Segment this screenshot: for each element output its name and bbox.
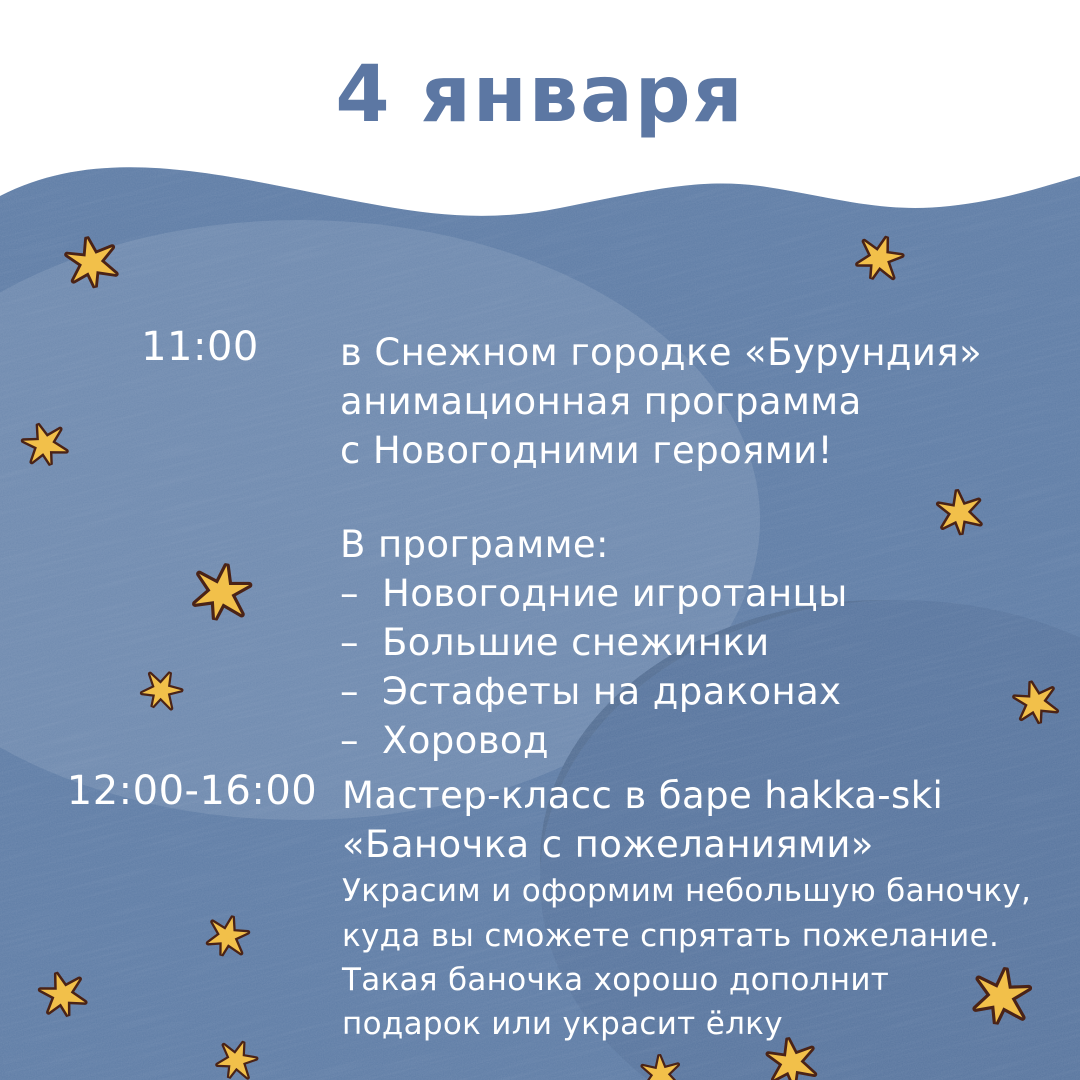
list-item-label: Новогодние игротанцы — [382, 572, 848, 615]
entry-lead-line: анимационная программа — [340, 378, 1070, 427]
masterclass-description-line: подарок или украсит ёлку — [342, 1002, 1072, 1046]
list-item: –Большие снежинки — [340, 619, 1070, 668]
page-title: 4 января — [0, 56, 1080, 134]
bullet-dash: – — [340, 570, 382, 619]
list-item-label: Хоровод — [382, 719, 549, 762]
program-heading: В программе: — [340, 521, 1070, 570]
list-item-label: Эстафеты на драконах — [382, 670, 841, 713]
list-item: –Новогодние игротанцы — [340, 570, 1070, 619]
masterclass-description-line: куда вы сможете спрятать пожелание. — [342, 914, 1072, 958]
list-item-label: Большие снежинки — [382, 621, 770, 664]
schedule-entry: 11:00 в Снежном городке «Бурундия» анима… — [60, 324, 1070, 766]
schedule-list: 11:00 в Снежном городке «Бурундия» анима… — [0, 0, 1080, 1080]
program-item-list: –Новогодние игротанцы –Большие снежинки … — [340, 570, 1070, 765]
list-item: –Эстафеты на драконах — [340, 668, 1070, 717]
entry-body: Мастер-класс в баре hakka-ski «Баночка с… — [342, 768, 1072, 1047]
entry-lead-line: в Снежном городке «Бурундия» — [340, 329, 1070, 378]
bullet-dash: – — [340, 668, 382, 717]
bullet-dash: – — [340, 619, 382, 668]
masterclass-title-line: «Баночка с пожеланиями» — [342, 820, 1072, 869]
entry-time: 12:00-16:00 — [42, 768, 342, 814]
schedule-entry: 12:00-16:00 Мастер-класс в баре hakka-sk… — [42, 768, 1072, 1047]
spacer — [340, 475, 1070, 521]
masterclass-title-line: Мастер-класс в баре hakka-ski — [342, 771, 1072, 820]
entry-body: в Снежном городке «Бурундия» анимационна… — [340, 324, 1070, 766]
page-title-wrap: 4 января — [0, 56, 1080, 134]
masterclass-description-line: Такая баночка хорошо дополнит — [342, 958, 1072, 1002]
entry-lead-line: с Новогодними героями! — [340, 427, 1070, 476]
bullet-dash: – — [340, 717, 382, 766]
poster-canvas: 4 января 11:00 в Снежном городке «Бурунд… — [0, 0, 1080, 1080]
entry-time: 11:00 — [60, 324, 340, 370]
list-item: –Хоровод — [340, 717, 1070, 766]
masterclass-description-line: Украсим и оформим небольшую баночку, — [342, 869, 1072, 913]
